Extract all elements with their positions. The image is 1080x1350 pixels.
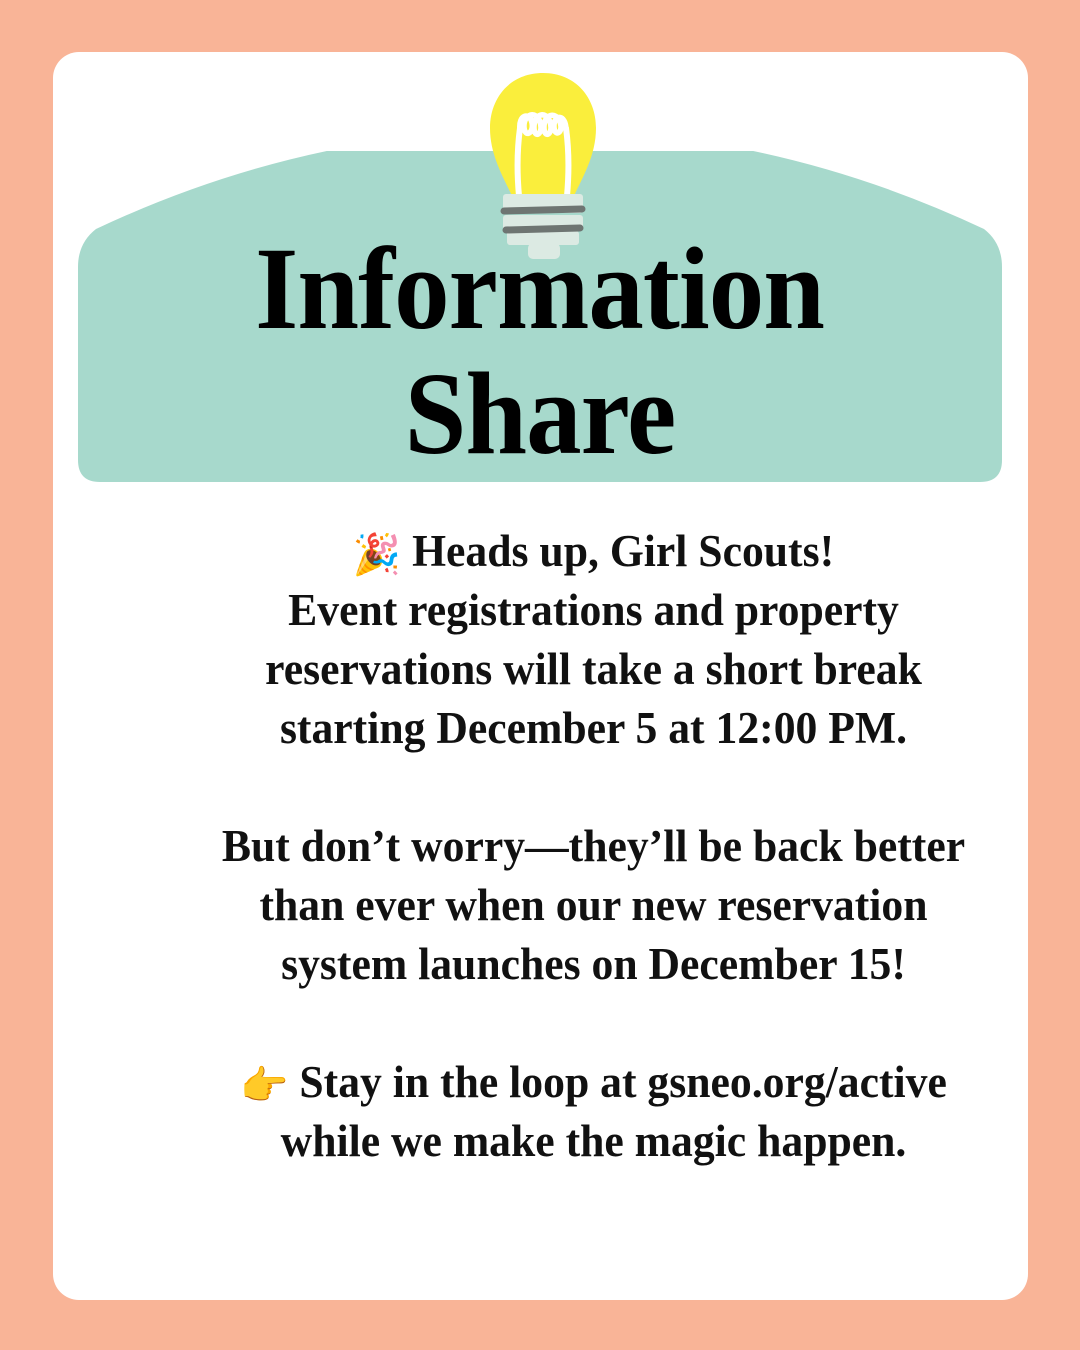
party-popper-emoji: 🎉 [353, 535, 401, 575]
announcement-line-1-text: Heads up, Girl Scouts! [412, 526, 834, 576]
announcement-line-2: Event registrations and property [159, 581, 1027, 640]
announcement-line-3: reservations will take a short break [159, 640, 1027, 699]
lightbulb-icon [484, 70, 602, 262]
white-card: Information Share 🎉 Heads up, Girl Scout… [53, 52, 1028, 1300]
paragraph-call-to-action: 👉 Stay in the loop at gsneo.org/active w… [159, 1053, 1027, 1171]
body-text-block: 🎉 Heads up, Girl Scouts! Event registrat… [106, 522, 1028, 1171]
reassurance-line-3: system launches on December 15! [159, 935, 1027, 994]
cta-link-text[interactable]: Stay in the loop at gsneo.org/active [299, 1057, 946, 1107]
announcement-line-4: starting December 5 at 12:00 PM. [159, 699, 1027, 758]
announcement-line-1: 🎉 Heads up, Girl Scouts! [159, 522, 1027, 581]
paragraph-announcement: 🎉 Heads up, Girl Scouts! Event registrat… [159, 522, 1027, 758]
poster-canvas: Information Share 🎉 Heads up, Girl Scout… [0, 0, 1080, 1350]
reassurance-line-1: But don’t worry—they’ll be back better [159, 817, 1027, 876]
reassurance-line-2: than ever when our new reservation [159, 876, 1027, 935]
cta-line-2: while we make the magic happen. [159, 1112, 1027, 1171]
paragraph-reassurance: But don’t worry—they’ll be back better t… [159, 817, 1027, 994]
cta-line-1: 👉 Stay in the loop at gsneo.org/active [159, 1053, 1027, 1112]
pointing-right-emoji: 👉 [240, 1066, 288, 1106]
